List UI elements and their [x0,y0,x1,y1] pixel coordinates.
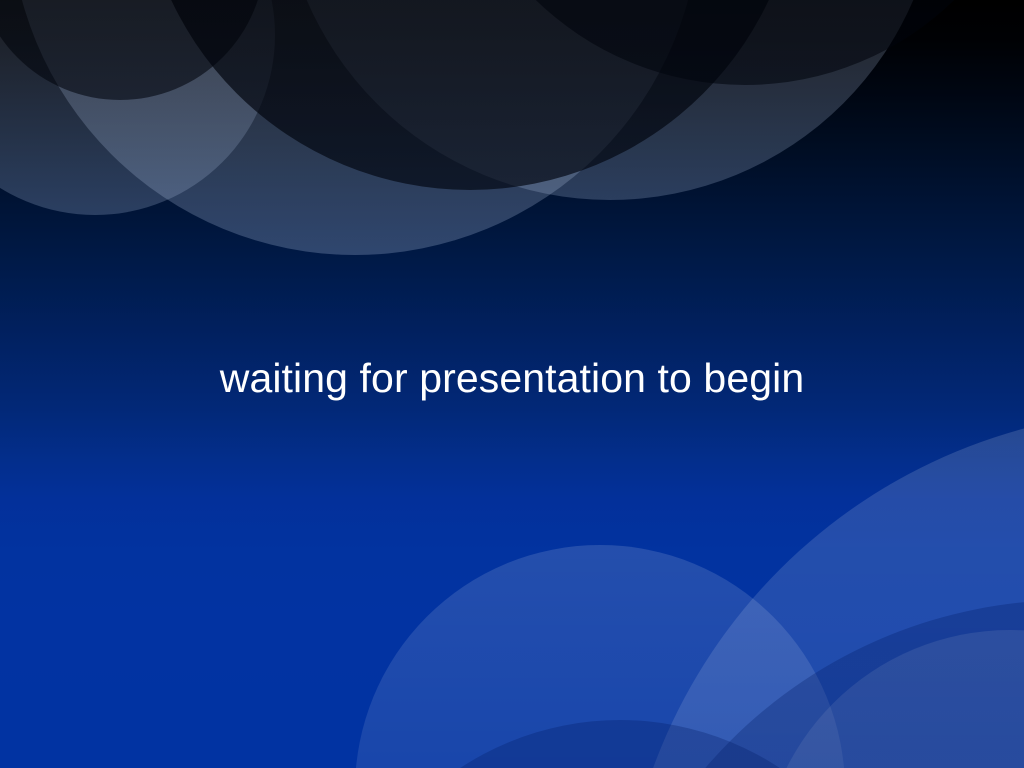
slide-title: waiting for presentation to begin [220,352,805,404]
slide-title-block: waiting for presentation to begin [0,352,1024,404]
presentation-slide: waiting for presentation to begin [0,0,1024,768]
